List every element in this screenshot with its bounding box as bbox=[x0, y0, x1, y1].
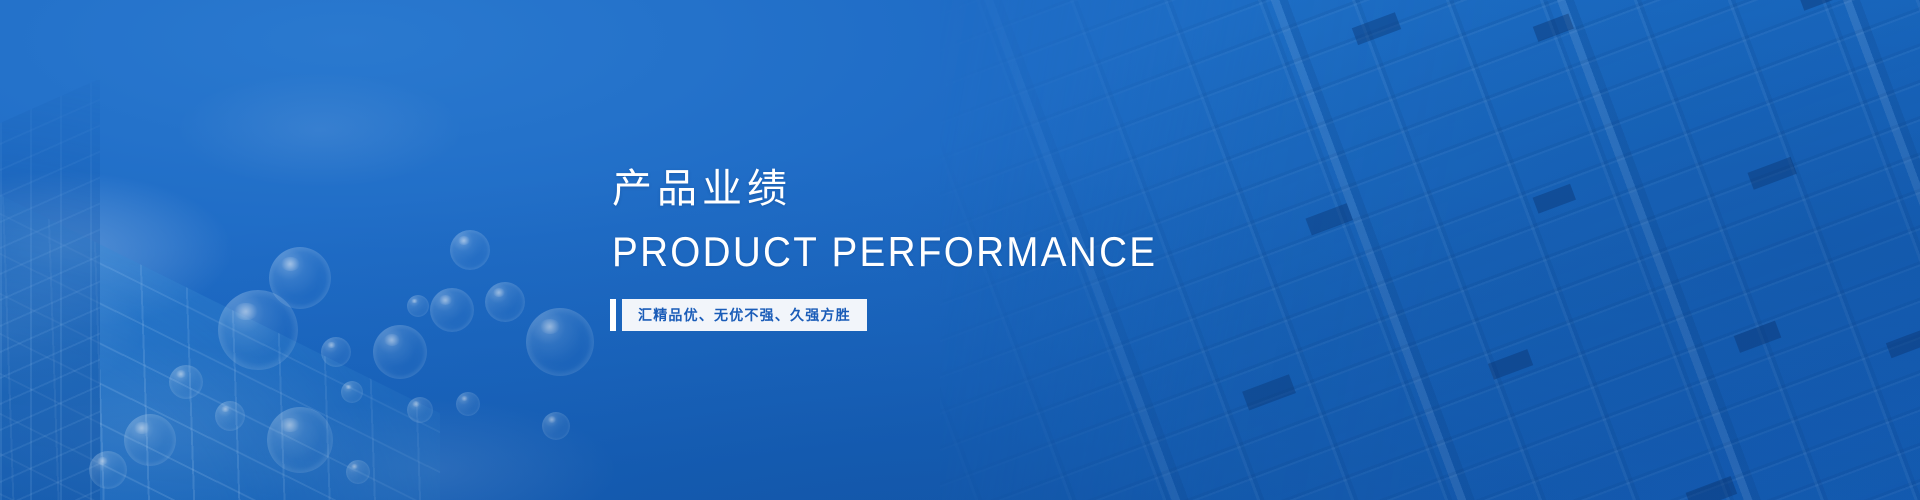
skyscraper-corner-left bbox=[0, 80, 440, 500]
window-accent bbox=[1686, 476, 1738, 500]
page-title-english: PRODUCT PERFORMANCE bbox=[612, 231, 1438, 273]
window-accent bbox=[1533, 184, 1576, 214]
window-accent bbox=[1533, 14, 1574, 42]
bubble-icon bbox=[526, 308, 594, 376]
tagline-box: 汇精品优、无优不强、久强方胜 bbox=[622, 299, 867, 331]
tagline: 汇精品优、无优不强、久强方胜 bbox=[610, 299, 1510, 331]
window-accent bbox=[1886, 329, 1920, 358]
bubble-icon bbox=[542, 412, 570, 440]
tagline-text: 汇精品优、无优不强、久强方胜 bbox=[638, 308, 851, 322]
page-title-chinese: 产品业绩 bbox=[612, 169, 1510, 209]
window-accent bbox=[1747, 157, 1796, 190]
window-accent bbox=[1797, 0, 1853, 11]
bubble-icon bbox=[450, 230, 490, 270]
product-performance-banner: 产品业绩 PRODUCT PERFORMANCE 汇精品优、无优不强、久强方胜 bbox=[0, 0, 1920, 500]
bubble-icon bbox=[485, 282, 525, 322]
glass-face-side bbox=[0, 80, 100, 500]
banner-content: 产品业绩 PRODUCT PERFORMANCE 汇精品优、无优不强、久强方胜 bbox=[610, 0, 1510, 500]
window-accent bbox=[1734, 321, 1782, 353]
bubble-icon bbox=[456, 392, 480, 416]
